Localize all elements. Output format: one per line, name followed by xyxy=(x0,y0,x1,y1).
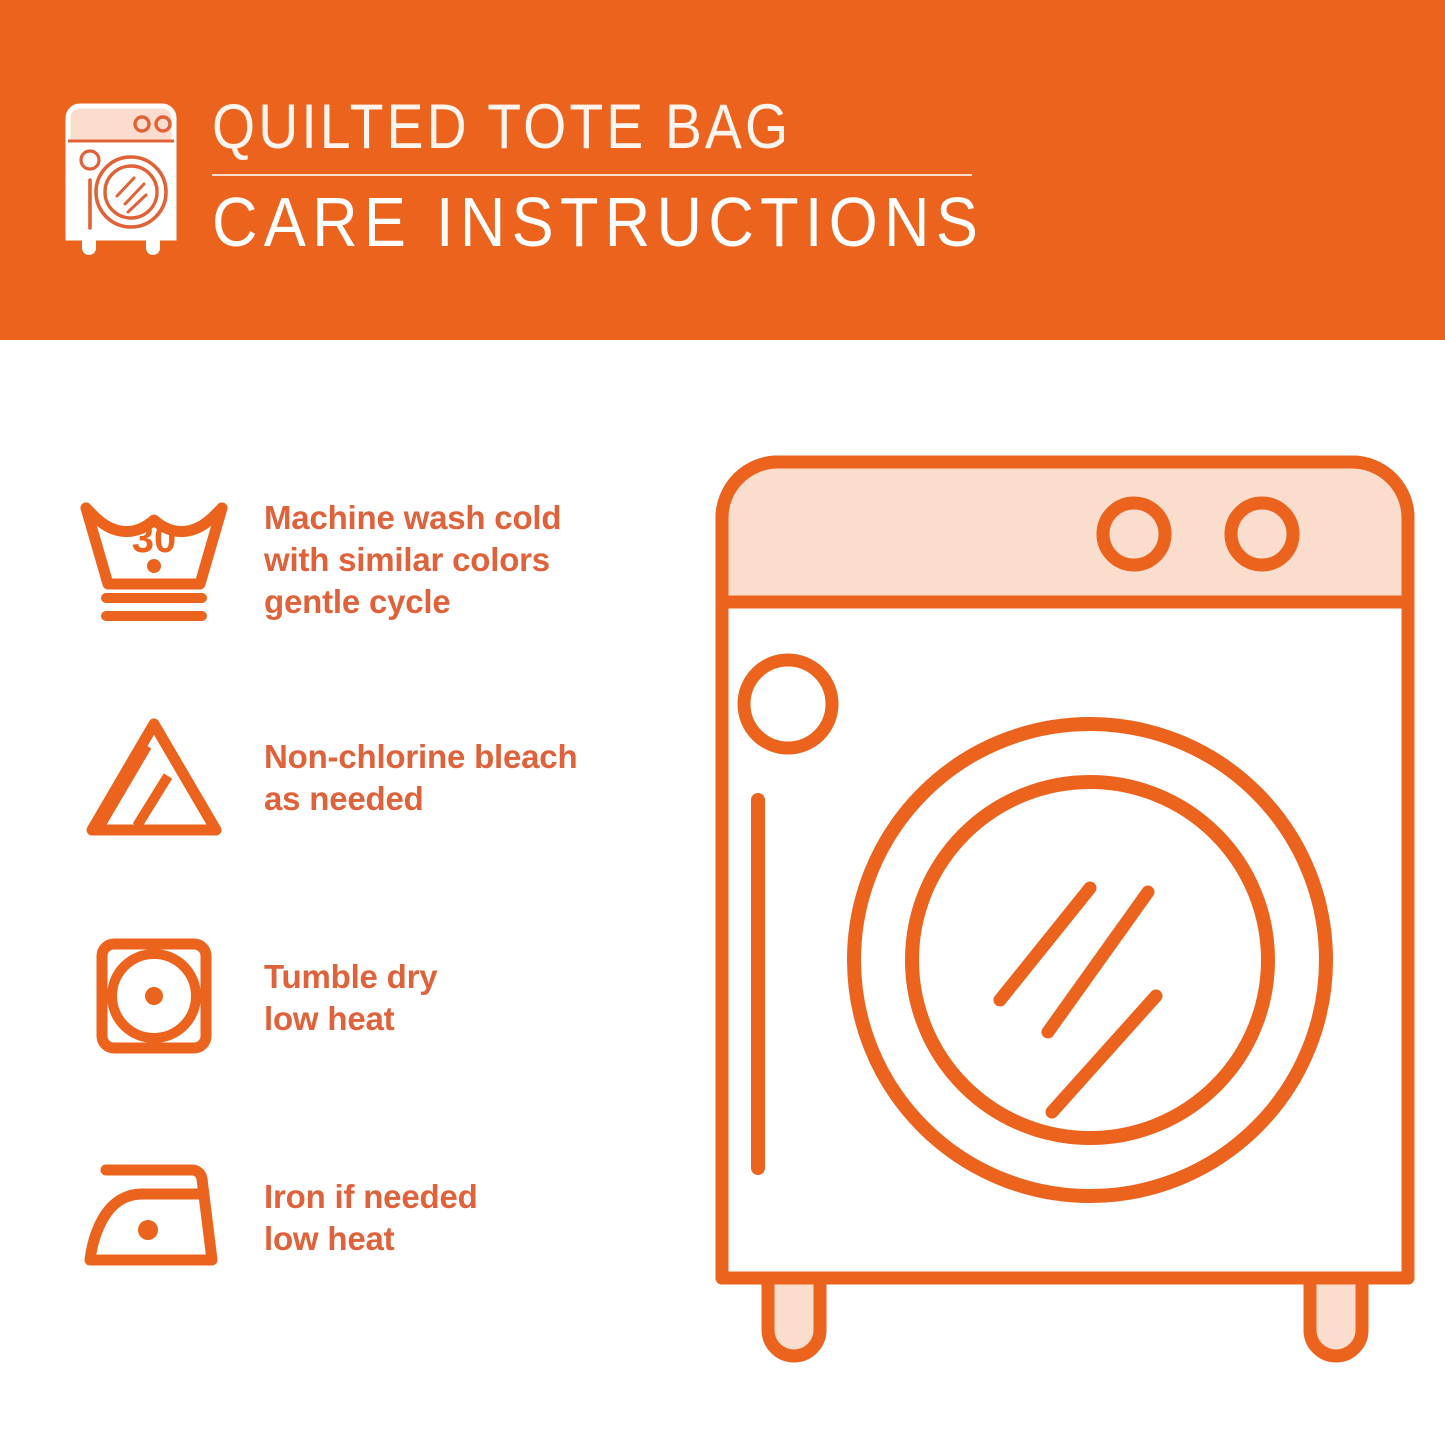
non-chlorine-bleach-triangle-icon xyxy=(68,708,240,848)
care-line: as needed xyxy=(264,778,577,820)
care-line: gentle cycle xyxy=(264,581,561,623)
care-label-machine-wash: Machine wash cold with similar colors ge… xyxy=(264,497,561,623)
title-divider xyxy=(212,174,972,176)
care-line: Non-chlorine bleach xyxy=(264,736,577,778)
care-line: low heat xyxy=(264,998,437,1040)
care-label-tumble-dry: Tumble dry low heat xyxy=(264,956,437,1040)
tumble-dry-low-icon xyxy=(68,928,240,1068)
washing-machine-illustration xyxy=(700,440,1430,1380)
care-instruction-list: 30 Machine wash cold with similar colors… xyxy=(0,340,700,1445)
header-banner: QUILTED TOTE BAG CARE INSTRUCTIONS xyxy=(0,0,1445,340)
care-row-tumble-dry: Tumble dry low heat xyxy=(68,928,688,1068)
page-subtitle: CARE INSTRUCTIONS xyxy=(212,186,984,260)
leg-left xyxy=(768,1278,820,1356)
leg-right xyxy=(1310,1278,1362,1356)
iron-low-heat-icon xyxy=(68,1148,240,1288)
wash-temperature-label: 30 xyxy=(132,517,177,561)
care-label-iron: Iron if needed low heat xyxy=(264,1176,478,1260)
care-line: Tumble dry xyxy=(264,956,437,998)
page-title: QUILTED TOTE BAG xyxy=(212,94,967,160)
washing-machine-icon xyxy=(62,100,180,258)
care-line: Iron if needed xyxy=(264,1176,478,1218)
care-row-bleach: Non-chlorine bleach as needed xyxy=(68,708,688,848)
header-titles: QUILTED TOTE BAG CARE INSTRUCTIONS xyxy=(212,92,1070,260)
care-row-iron: Iron if needed low heat xyxy=(68,1148,688,1288)
care-label-bleach: Non-chlorine bleach as needed xyxy=(264,736,577,820)
care-row-machine-wash: 30 Machine wash cold with similar colors… xyxy=(68,490,688,630)
care-line: low heat xyxy=(264,1218,478,1260)
wash-tub-30-gentle-icon: 30 xyxy=(68,490,240,630)
care-line: Machine wash cold xyxy=(264,497,561,539)
care-line: with similar colors xyxy=(264,539,561,581)
header-content: QUILTED TOTE BAG CARE INSTRUCTIONS xyxy=(62,92,1070,260)
care-instructions-page: QUILTED TOTE BAG CARE INSTRUCTIONS 30 xyxy=(0,0,1445,1445)
